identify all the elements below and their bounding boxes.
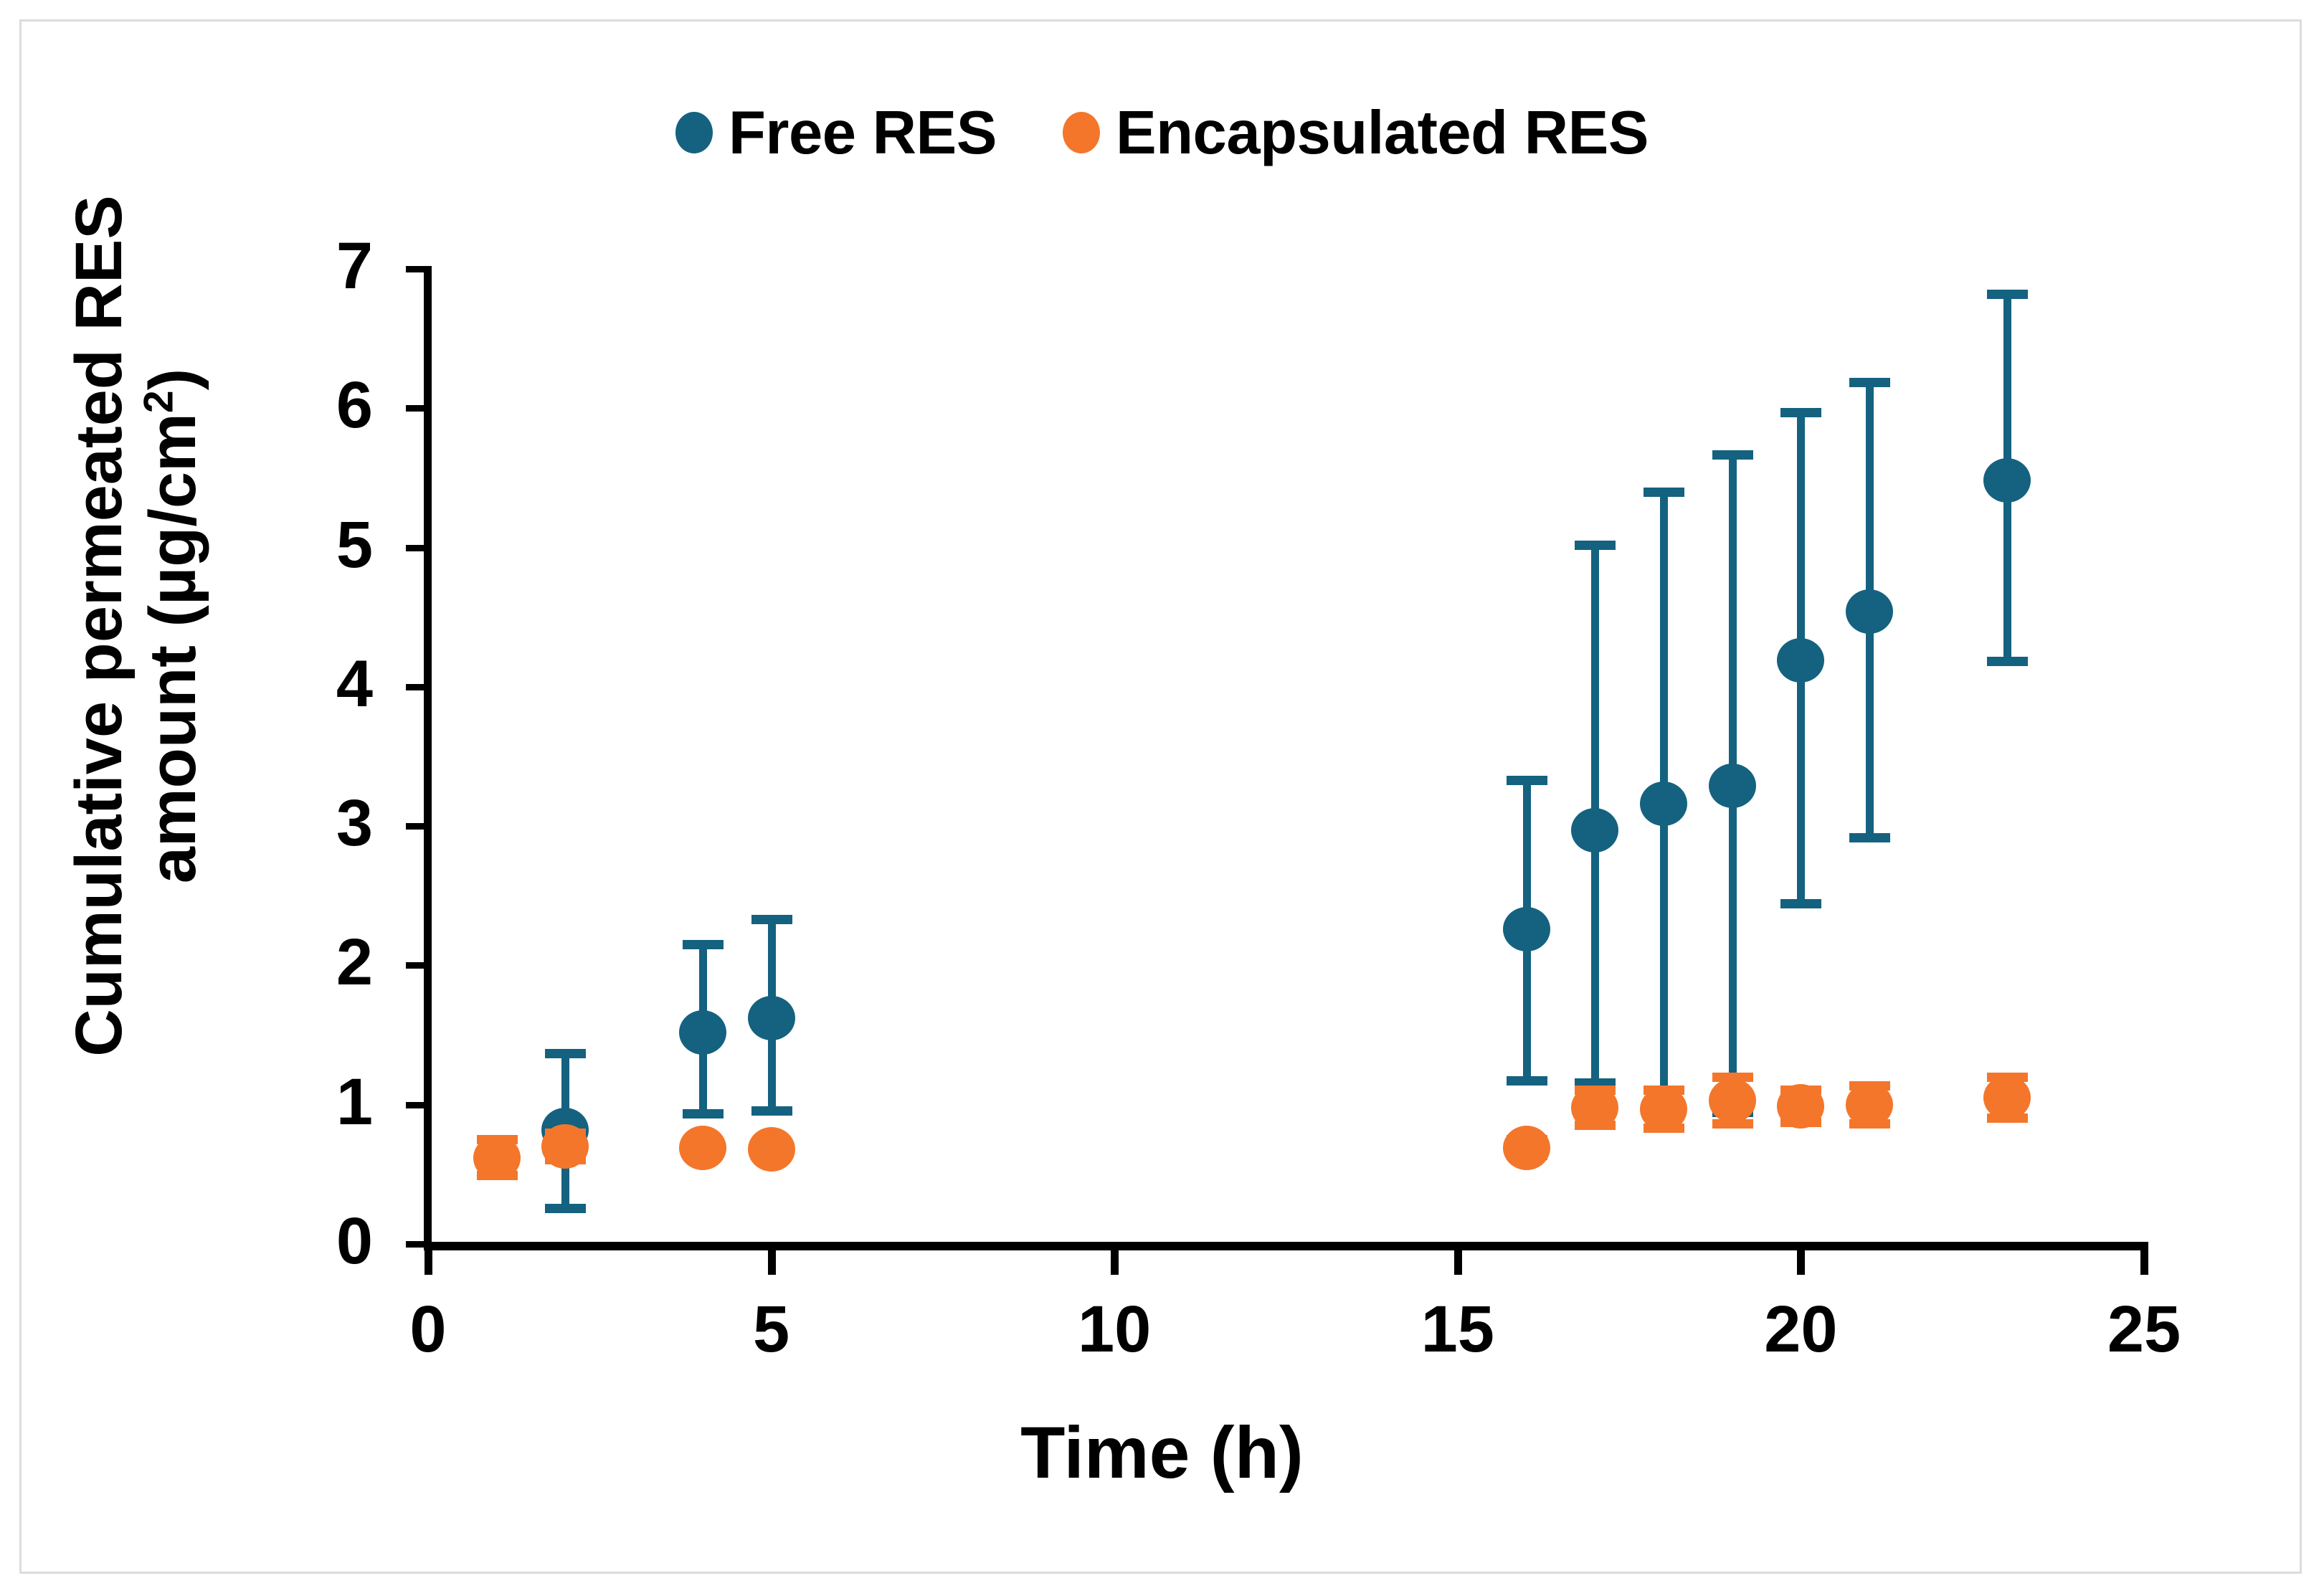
data-point: [1983, 1075, 2031, 1120]
error-bar-cap-lower: [545, 1204, 586, 1213]
y-axis-title: Cumulative permeated RES amount (µg/cm2): [62, 88, 210, 1164]
y-tick-label-6: 6: [287, 372, 373, 438]
x-tick-label-15: 15: [1393, 1296, 1522, 1362]
figure-root: Free RES Encapsulated RES 01234567 05101…: [0, 0, 2324, 1596]
y-axis-title-line1: Cumulative permeated RES: [62, 88, 136, 1164]
y-tick-0: [406, 1241, 426, 1248]
error-bar-cap-lower: [1987, 657, 2028, 666]
error-bar-cap-upper: [1507, 776, 1547, 785]
y-tick-label-2: 2: [287, 929, 373, 995]
data-point: [748, 996, 795, 1040]
x-tick-20: [1797, 1250, 1805, 1275]
y-tick-label-1: 1: [287, 1069, 373, 1135]
y-tick-3: [406, 823, 426, 830]
y-tick-label-3: 3: [287, 790, 373, 856]
legend-item-encapsulated-res[interactable]: Encapsulated RES: [1063, 103, 1649, 163]
error-bar-cap-upper: [1780, 408, 1821, 417]
data-point: [1846, 589, 1893, 634]
data-point: [679, 1126, 726, 1170]
data-point: [1777, 638, 1824, 683]
x-tick-label-20: 20: [1736, 1296, 1865, 1362]
data-point: [1571, 808, 1618, 852]
data-point: [1640, 782, 1687, 826]
data-point: [1503, 1126, 1550, 1170]
y-tick-5: [406, 545, 426, 551]
y-tick-6: [406, 405, 426, 412]
error-bar-cap-lower: [751, 1106, 792, 1116]
data-point: [541, 1124, 589, 1169]
x-tick-5: [768, 1250, 776, 1275]
error-bar-cap-upper: [1712, 450, 1753, 460]
error-bar-cap-lower: [1507, 1076, 1547, 1086]
x-tick-label-25: 25: [2079, 1296, 2209, 1362]
plot-area: [428, 269, 2144, 1244]
error-bar-cap-upper: [1575, 541, 1616, 550]
error-bar-cap-upper: [751, 915, 792, 924]
x-tick-label-5: 5: [707, 1296, 836, 1362]
chart-legend: Free RES Encapsulated RES: [0, 86, 2324, 179]
legend-item-free-res[interactable]: Free RES: [675, 103, 997, 163]
error-bar-cap-upper: [1849, 378, 1890, 387]
error-bar-cap-lower: [683, 1109, 724, 1118]
x-tick-0: [425, 1250, 432, 1275]
data-point: [1983, 458, 2031, 503]
data-point: [1709, 1078, 1756, 1123]
x-axis-title: Time (h): [0, 1416, 2324, 1489]
y-tick-label-7: 7: [287, 233, 373, 299]
data-point: [1640, 1087, 1687, 1131]
error-bar-cap-upper: [545, 1049, 586, 1058]
x-tick-25: [2140, 1250, 2148, 1275]
y-tick-2: [406, 962, 426, 969]
legend-label-free-res: Free RES: [729, 103, 997, 163]
free-res-marker-icon: [675, 112, 713, 153]
data-point: [1846, 1083, 1893, 1127]
y-tick-label-5: 5: [287, 512, 373, 578]
x-tick-15: [1454, 1250, 1462, 1275]
y-tick-label-4: 4: [287, 651, 373, 717]
y-axis-title-line2: amount (µg/cm2): [136, 88, 210, 1164]
encapsulated-res-marker-icon: [1063, 112, 1100, 153]
data-point: [1709, 764, 1756, 808]
error-bar-cap-lower: [1849, 833, 1890, 842]
y-tick-7: [406, 266, 426, 272]
error-bar-cap-upper: [1987, 290, 2028, 299]
data-point: [679, 1010, 726, 1055]
x-tick-label-10: 10: [1050, 1296, 1179, 1362]
x-tick-label-0: 0: [364, 1296, 493, 1362]
data-point: [1571, 1086, 1618, 1130]
y-tick-4: [406, 684, 426, 690]
y-tick-label-0: 0: [287, 1208, 373, 1274]
error-bar-cap-upper: [1644, 488, 1684, 497]
error-bar-cap-lower: [1780, 899, 1821, 908]
data-point: [1503, 907, 1550, 951]
error-bar-cap-upper: [683, 940, 724, 949]
data-point: [1777, 1084, 1824, 1129]
data-point: [473, 1136, 521, 1180]
x-tick-10: [1111, 1250, 1119, 1275]
data-point: [748, 1127, 795, 1172]
legend-label-encapsulated-res: Encapsulated RES: [1116, 103, 1649, 163]
y-tick-1: [406, 1102, 426, 1108]
